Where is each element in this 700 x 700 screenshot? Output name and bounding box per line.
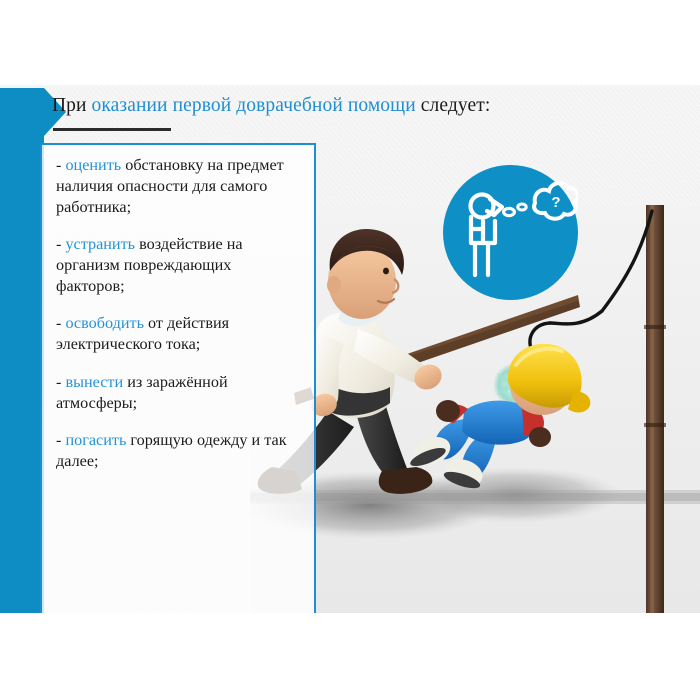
list-item: - вынести из заражённой атмосферы; xyxy=(56,372,302,414)
list-item: - оценить обстановку на предмет наличия … xyxy=(56,155,302,218)
list-item: - освободить от действия электрического … xyxy=(56,313,302,355)
title-prefix: При xyxy=(52,95,92,116)
list-item-keyword: оценить xyxy=(65,156,121,174)
left-accent-bar xyxy=(0,88,44,613)
title-highlight: оказании первой доврачебной помощи xyxy=(92,95,416,116)
list-item-keyword: устранить xyxy=(65,235,135,253)
question-mark-glyph: ? xyxy=(551,194,560,211)
list-item-keyword: погасить xyxy=(65,431,126,449)
thinking-person-icon: ? xyxy=(443,165,578,300)
list-item: - устранить воздействие на организм повр… xyxy=(56,234,302,297)
bullet-list-box: - оценить обстановку на предмет наличия … xyxy=(40,143,316,613)
list-item-keyword: вынести xyxy=(65,373,123,391)
page-title: При оказании первой доврачебной помощи с… xyxy=(52,95,490,116)
list-item-keyword: освободить xyxy=(65,314,144,332)
slide-canvas: ? При оказании первой доврачебной помощи… xyxy=(0,85,700,613)
list-item: - погасить горящую одежду и так далее; xyxy=(56,430,302,472)
title-underline xyxy=(53,128,171,131)
title-suffix: следует: xyxy=(416,95,491,116)
utility-pole xyxy=(644,205,666,613)
